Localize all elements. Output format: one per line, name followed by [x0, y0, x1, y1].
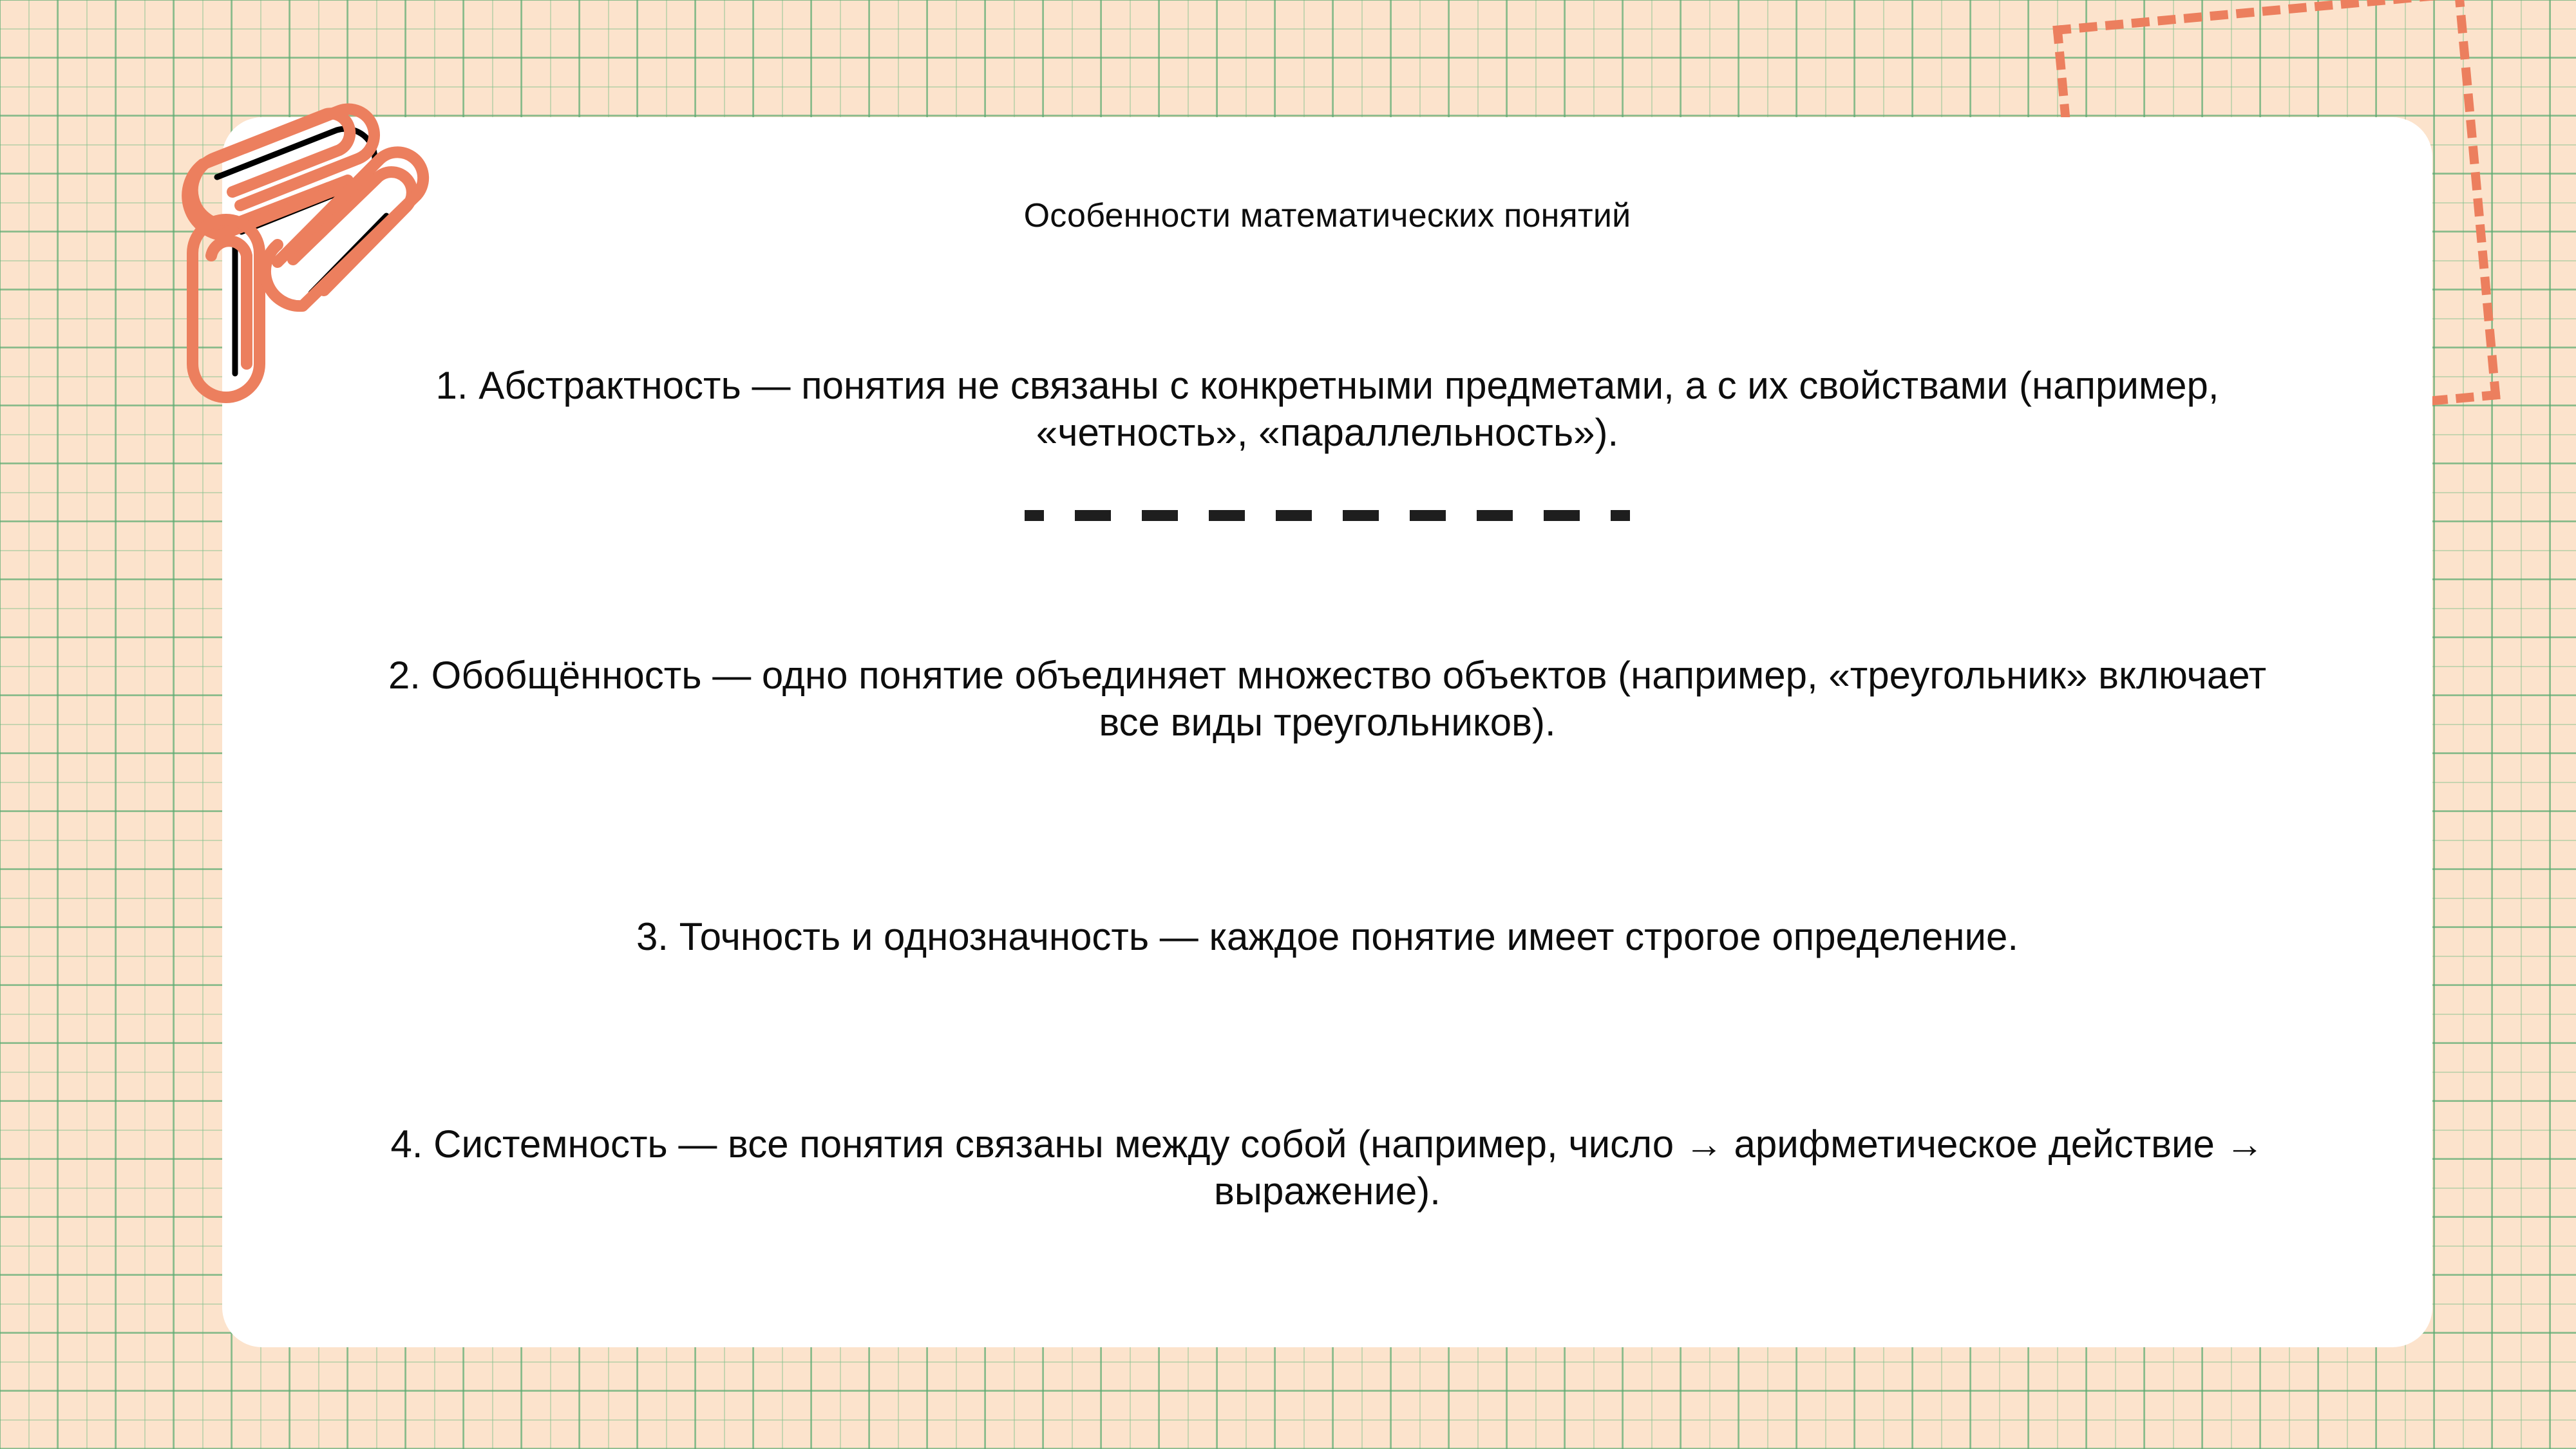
divider-dash: [1410, 510, 1446, 521]
bullet-point-1: 1. Абстрактность — понятия не связаны с …: [374, 362, 2280, 456]
divider-dash: [1477, 510, 1513, 521]
bullet-point-4: 4. Системность — все понятия связаны меж…: [374, 1121, 2280, 1215]
page-title: Особенности математических понятий: [222, 196, 2432, 236]
divider-dash: [1075, 510, 1111, 521]
card-content: Особенности математических понятий 1. Аб…: [222, 117, 2432, 1347]
bullet-point-2: 2. Обобщённость — одно понятие объединяе…: [374, 652, 2280, 746]
divider-dash: [1209, 510, 1245, 521]
dashed-divider: [222, 510, 2432, 521]
divider-dash: [1544, 510, 1580, 521]
divider-dash: [1142, 510, 1178, 521]
divider-dash: [1025, 510, 1044, 521]
slide-canvas: Особенности математических понятий 1. Аб…: [0, 0, 2576, 1449]
divider-dash: [1343, 510, 1379, 521]
bullet-point-3: 3. Точность и однозначность — каждое пон…: [374, 913, 2280, 960]
divider-dash: [1276, 510, 1312, 521]
divider-dash: [1611, 510, 1630, 521]
